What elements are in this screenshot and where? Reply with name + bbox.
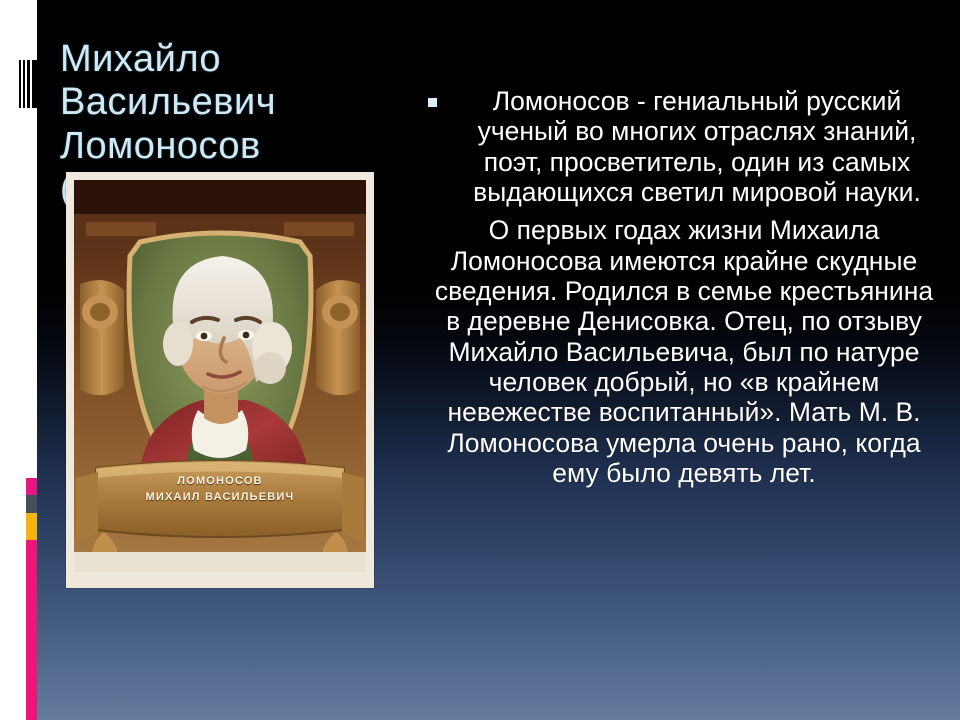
presentation-slide: Михайло Васильевич Ломоносов (1711-1765) <box>0 0 960 720</box>
segment-magenta-top <box>26 478 37 495</box>
barcode-stripe <box>19 60 21 108</box>
body-paragraph-2-text: О первых годах жизни Михаила Ломоносова … <box>435 215 933 488</box>
barcode-stripe <box>23 60 25 108</box>
body-paragraph-1-text: Ломоносов - гениальный русский ученый во… <box>473 86 921 207</box>
segment-magenta-long <box>26 540 37 720</box>
body-text-column: Ломоносов - гениальный русский ученый во… <box>416 86 950 492</box>
barcode-decoration-icon <box>16 60 38 108</box>
portrait-image: ЛОМОНОСОВ МИХАИЛ ВАСИЛЬЕВИЧ <box>66 172 374 588</box>
barcode-stripe <box>27 60 30 108</box>
body-paragraph-1: Ломоносов - гениальный русский ученый во… <box>416 86 950 207</box>
body-paragraph-2: О первых годах жизни Михаила Ломоносова … <box>416 215 950 488</box>
portrait-artwork <box>66 172 374 588</box>
segment-slate <box>26 495 37 513</box>
square-bullet-icon <box>428 98 437 107</box>
barcode-stripe <box>32 60 38 108</box>
segment-amber <box>26 513 37 540</box>
color-segment-bar <box>26 478 37 720</box>
